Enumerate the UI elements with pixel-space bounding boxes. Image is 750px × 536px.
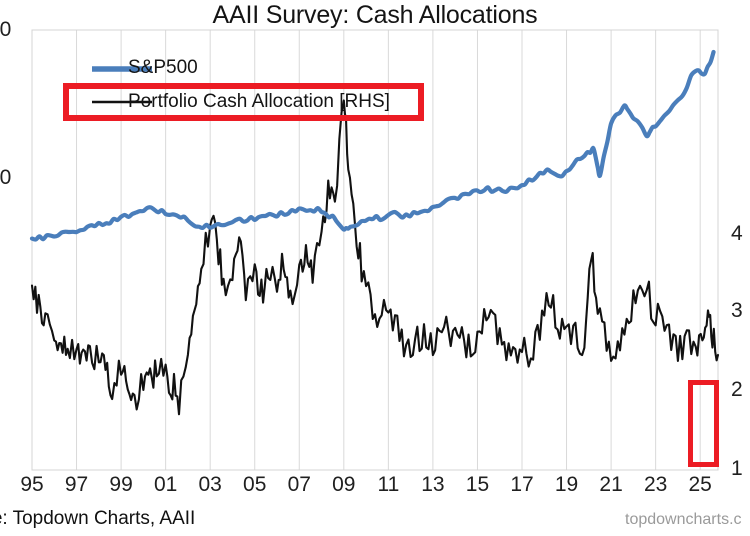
y-axis-right-tick-4: 4 bbox=[731, 222, 743, 246]
watermark: topdowncharts.c bbox=[625, 511, 742, 529]
x-axis-tick-99: 99 bbox=[109, 473, 132, 497]
legend-highlight-box bbox=[63, 83, 424, 121]
series-line-portfolio-cash-allocation bbox=[32, 100, 718, 414]
y-axis-right-tick-3: 3 bbox=[731, 299, 743, 323]
x-axis-tick-05: 05 bbox=[243, 473, 266, 497]
x-axis-tick-97: 97 bbox=[65, 473, 88, 497]
y-axis-left-tick-0: 00 bbox=[0, 18, 11, 42]
source-note: rce: Topdown Charts, AAII bbox=[0, 508, 195, 530]
x-axis-tick-13: 13 bbox=[421, 473, 444, 497]
recent-data-highlight-box bbox=[688, 380, 719, 467]
x-axis-tick-09: 09 bbox=[332, 473, 355, 497]
y-axis-left-tick-1: 00 bbox=[0, 166, 11, 190]
y-axis-right-tick-2: 2 bbox=[731, 378, 743, 402]
x-axis-tick-15: 15 bbox=[466, 473, 489, 497]
x-axis-tick-07: 07 bbox=[288, 473, 311, 497]
chart-container: AAII Survey: Cash Allocations 00 00 4 3 … bbox=[0, 0, 750, 536]
x-axis-tick-01: 01 bbox=[154, 473, 177, 497]
x-axis-tick-03: 03 bbox=[198, 473, 221, 497]
x-axis-tick-23: 23 bbox=[644, 473, 667, 497]
x-axis-tick-21: 21 bbox=[599, 473, 622, 497]
legend-label-sp500: S&P500 bbox=[128, 57, 198, 79]
x-axis-tick-19: 19 bbox=[555, 473, 578, 497]
x-axis-tick-17: 17 bbox=[510, 473, 533, 497]
y-axis-right-tick-1: 1 bbox=[731, 457, 743, 481]
x-axis-tick-25: 25 bbox=[688, 473, 711, 497]
x-axis-tick-11: 11 bbox=[377, 473, 399, 497]
x-axis-tick-95: 95 bbox=[20, 473, 43, 497]
plot-area bbox=[0, 0, 750, 536]
